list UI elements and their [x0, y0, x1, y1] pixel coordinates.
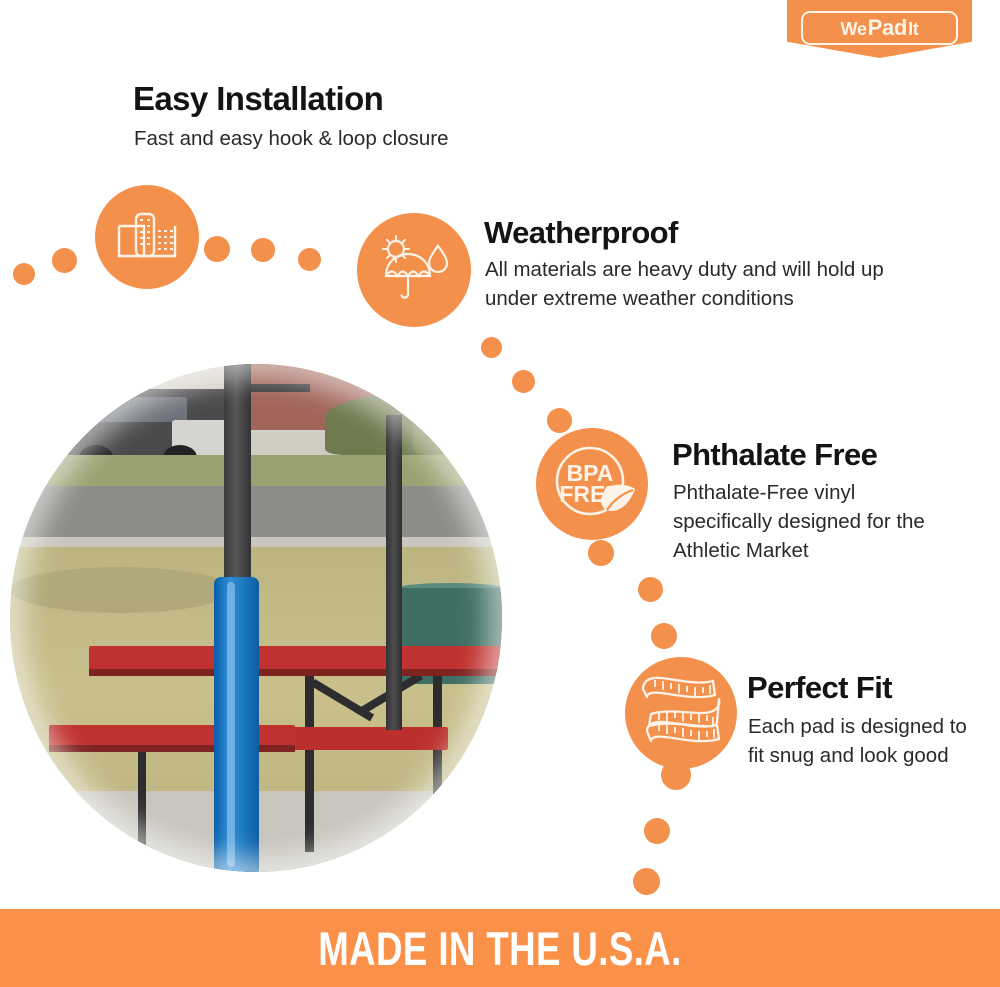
feature-icon-weatherproof — [357, 213, 471, 327]
product-photo — [10, 364, 502, 872]
feature-icon-perfect-fit — [625, 657, 737, 769]
trail-dot — [638, 577, 663, 602]
trail-dot — [13, 263, 35, 285]
feature-title-phthalate-free: Phthalate Free — [672, 437, 877, 473]
made-in-usa-text: MADE IN THE U.S.A. — [318, 921, 681, 976]
photo-vignette — [10, 364, 502, 872]
measuring-tape-icon — [635, 669, 727, 758]
trail-dot — [481, 337, 502, 358]
made-in-usa-banner: MADE IN THE U.S.A. — [0, 909, 1000, 987]
logo-word-it: It — [908, 20, 918, 38]
infographic-root: WePadIt Easy Installation Fast and easy … — [0, 0, 1000, 987]
logo-frame: WePadIt — [801, 11, 958, 45]
logo-word-we: We — [841, 20, 867, 38]
feature-title-easy-installation: Easy Installation — [133, 80, 383, 118]
trail-dot — [52, 248, 77, 273]
trail-dot — [298, 248, 321, 271]
bpa-icon-nub — [588, 540, 614, 566]
trail-dot — [633, 868, 660, 895]
logo-word-pad: Pad — [868, 17, 907, 39]
trail-dot — [204, 236, 230, 262]
trail-dot — [651, 623, 677, 649]
bpa-free-leaf-icon: BPA FREE — [543, 433, 641, 536]
perfect-fit-icon-nub — [661, 760, 691, 790]
feature-title-weatherproof: Weatherproof — [484, 215, 678, 251]
feature-desc-weatherproof: All materials are heavy duty and will ho… — [485, 255, 915, 313]
feature-desc-easy-installation: Fast and easy hook & loop closure — [134, 124, 554, 153]
trail-dot — [547, 408, 572, 433]
feature-desc-perfect-fit: Each pad is designed to fit snug and loo… — [748, 712, 973, 770]
feature-title-perfect-fit: Perfect Fit — [747, 670, 892, 706]
feature-icon-phthalate-free: BPA FREE — [536, 428, 648, 540]
trail-dot — [251, 238, 275, 262]
trail-dot — [644, 818, 670, 844]
trail-dot — [512, 370, 535, 393]
feature-desc-phthalate-free: Phthalate-Free vinyl specifically design… — [673, 478, 943, 565]
logo-text: WePadIt — [841, 17, 919, 39]
sun-umbrella-raindrop-icon — [376, 232, 452, 309]
brand-logo-banner[interactable]: WePadIt — [787, 0, 972, 58]
feature-icon-easy-installation — [95, 185, 199, 289]
building-installation-icon — [116, 210, 178, 265]
